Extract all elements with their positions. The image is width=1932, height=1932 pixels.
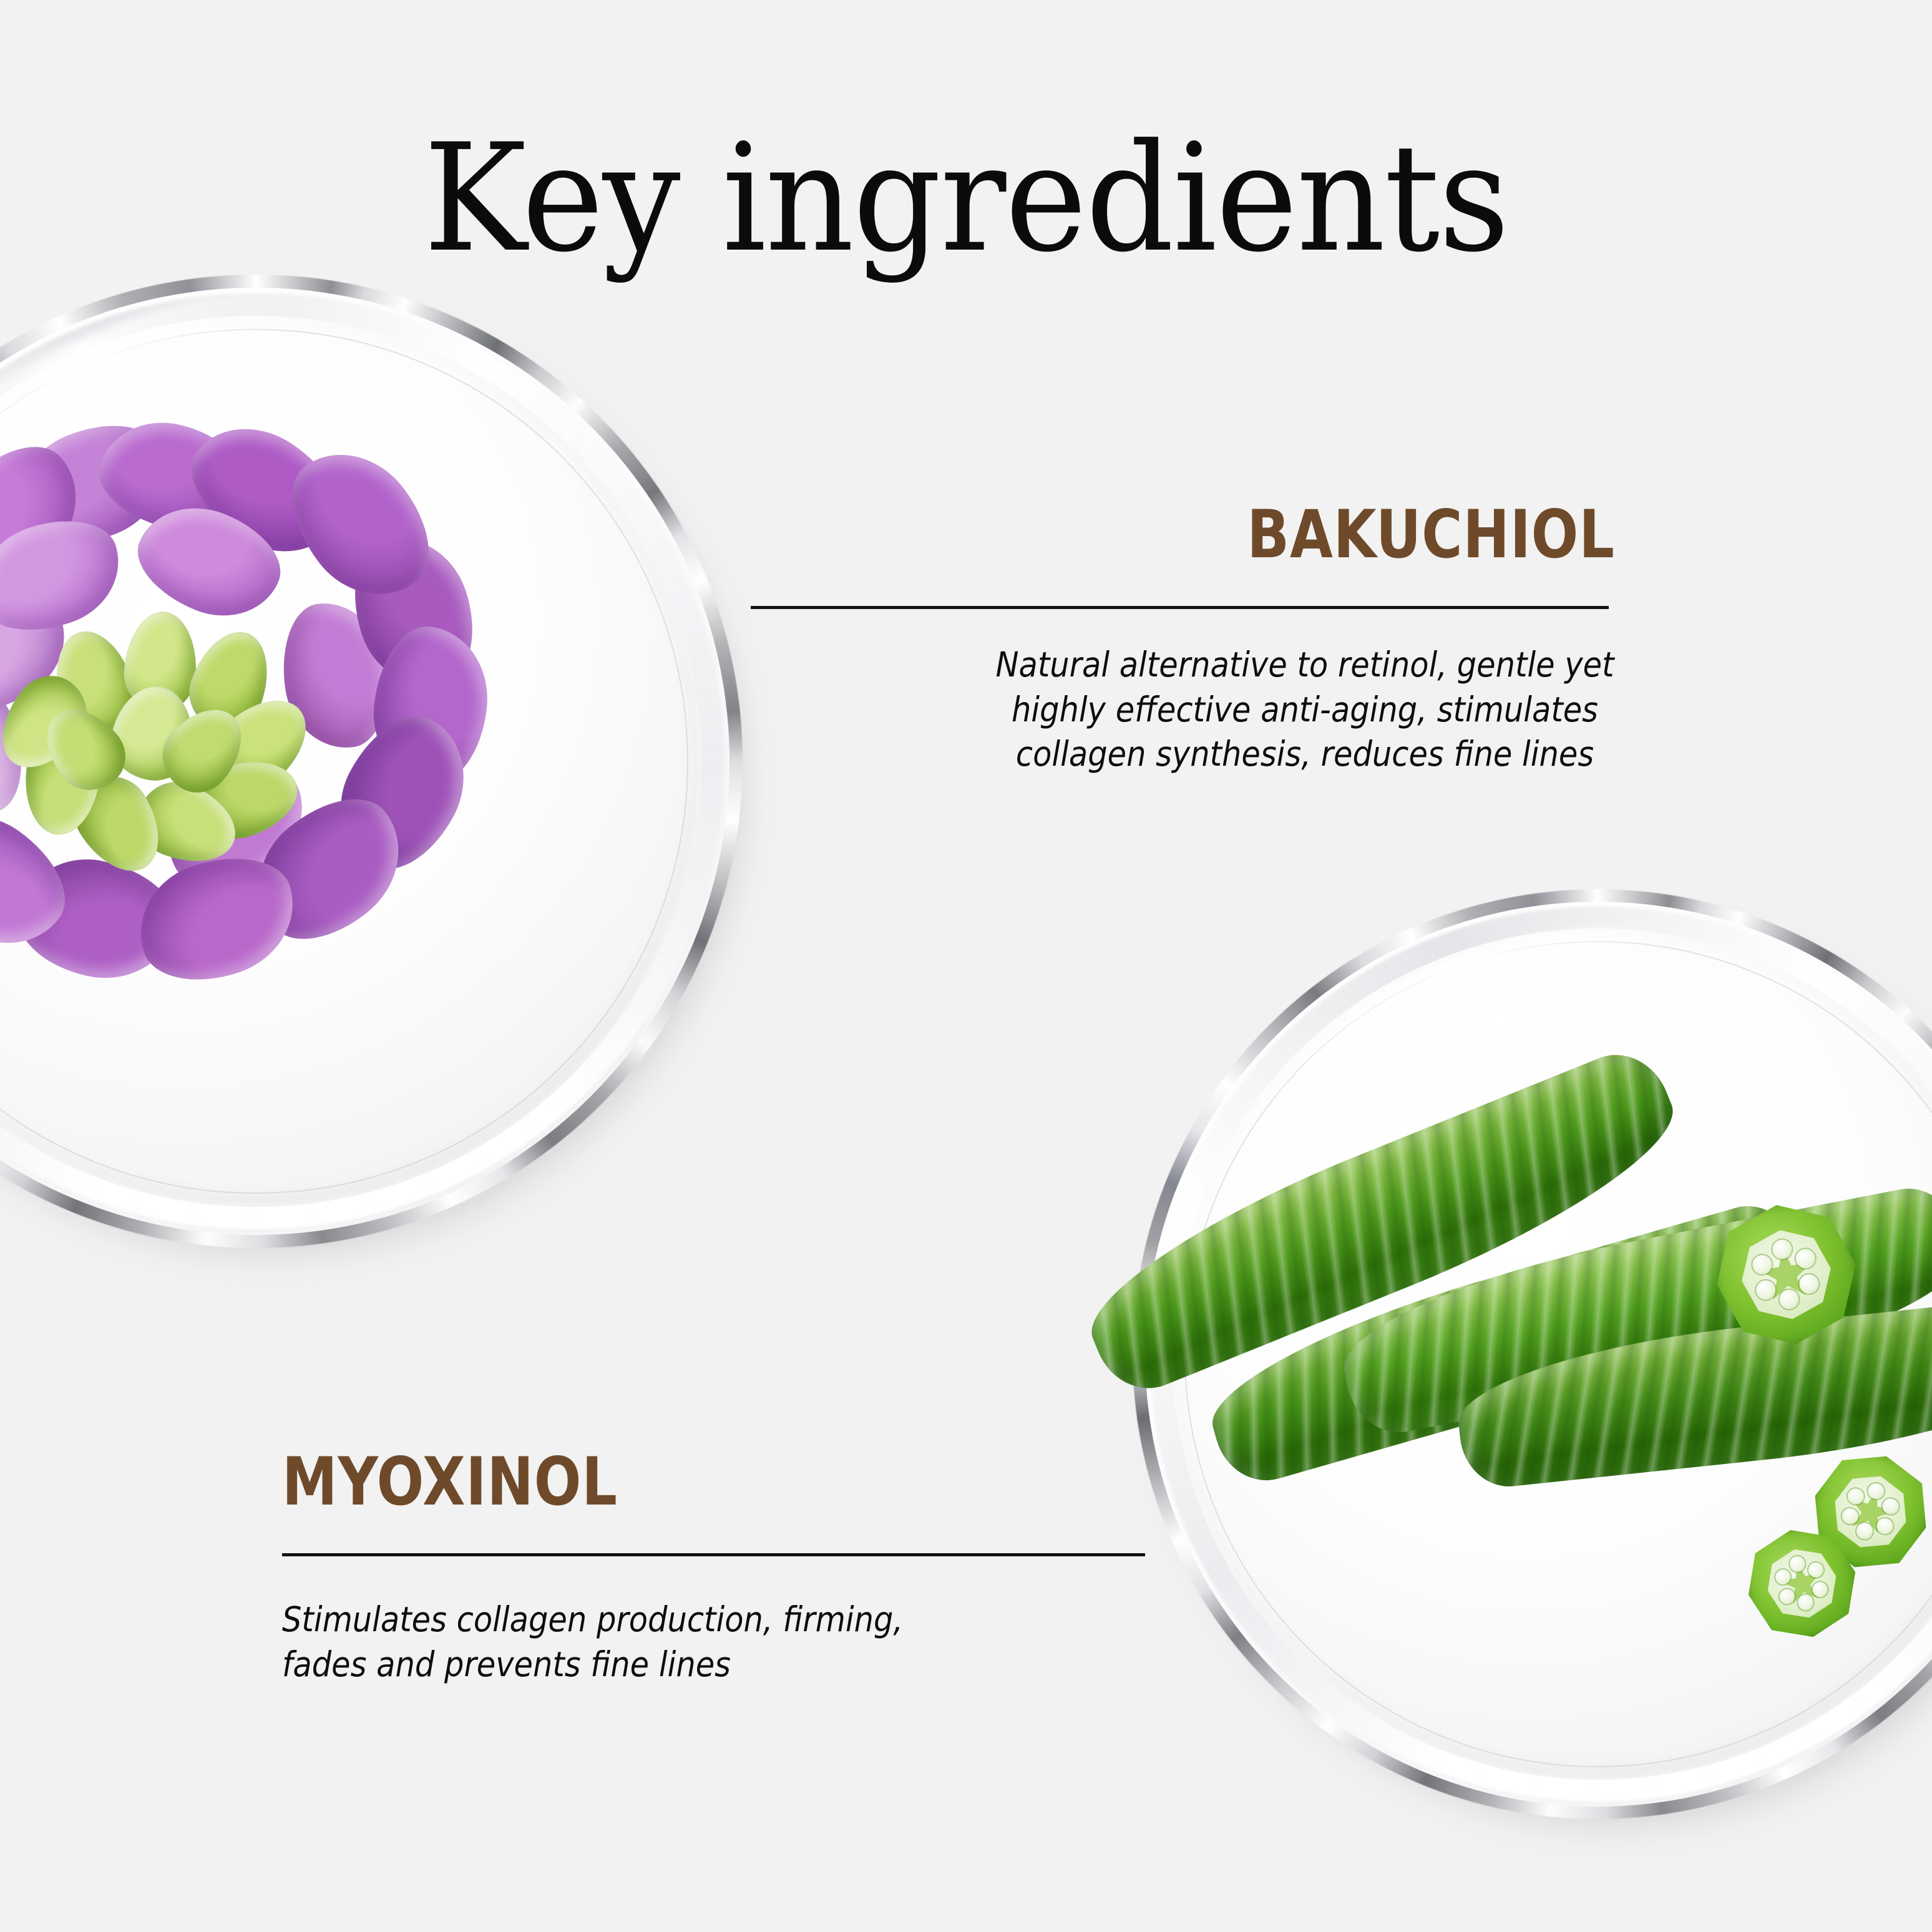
babchi-flower — [0, 424, 599, 1048]
okra-seed — [1774, 1568, 1792, 1586]
okra-slice — [1707, 1195, 1865, 1354]
okra-seed-chambers — [1739, 1227, 1833, 1322]
poster-canvas: Key ingredients BAKUCHIOL Natural altern… — [0, 0, 1932, 1932]
okra-seed — [1846, 1486, 1866, 1506]
okra-seed-chambers — [1763, 1544, 1841, 1622]
ingredient-divider-bakuchiol — [751, 606, 1609, 609]
okra-slice — [1737, 1519, 1867, 1649]
ingredient-description-myoxinol: Stimulates collagen production, firming,… — [282, 1598, 945, 1687]
okra-seed — [1812, 1581, 1830, 1599]
okra-seed — [1795, 1247, 1817, 1269]
ingredient-description-bakuchiol: Natural alternative to retinol, gentle y… — [973, 643, 1636, 777]
okra-seed — [1772, 1238, 1793, 1260]
okra-seed — [1807, 1561, 1825, 1579]
okra-seed — [1798, 1273, 1820, 1295]
okra-seed — [1778, 1588, 1796, 1606]
okra-seed — [1788, 1555, 1807, 1573]
okra-seed — [1875, 1516, 1895, 1536]
ingredient-title-myoxinol: MYOXINOL — [282, 1449, 618, 1515]
ingredient-divider-myoxinol — [282, 1553, 1145, 1556]
okra-seed — [1778, 1288, 1800, 1310]
okra-seed — [1752, 1254, 1773, 1276]
page-title: Key ingredients — [67, 125, 1864, 273]
okra-seed — [1755, 1279, 1777, 1300]
okra-seed — [1866, 1481, 1886, 1501]
ingredient-title-bakuchiol: BAKUCHIOL — [1247, 502, 1615, 568]
okra-arrangement — [1133, 889, 1932, 1819]
okra-seed — [1881, 1496, 1901, 1516]
okra-seed — [1797, 1594, 1815, 1612]
okra-seed — [1855, 1521, 1875, 1541]
